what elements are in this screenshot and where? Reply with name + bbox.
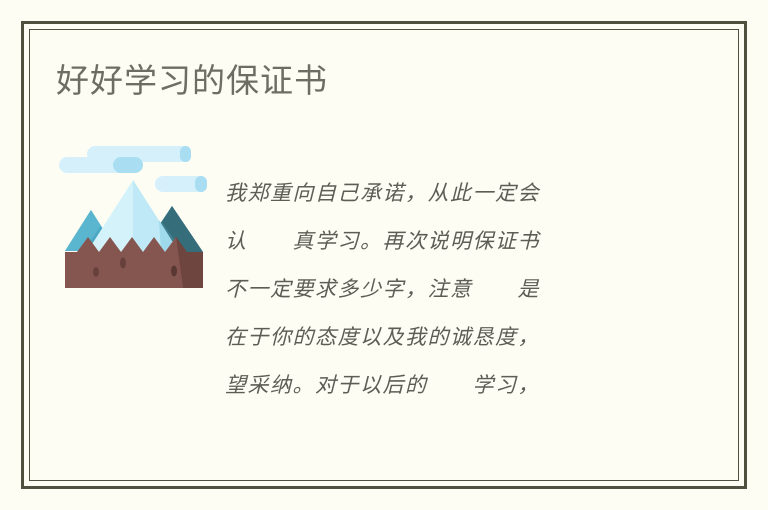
cloud-lower-group: [155, 176, 207, 192]
page-title: 好好学习的保证书: [56, 61, 328, 101]
body-text-line: 认 真学习。再次说明保证书: [225, 217, 645, 265]
body-text-line: 我郑重向自己承诺，从此一定会: [225, 169, 645, 217]
body-text: 我郑重向自己承诺，从此一定会 认 真学习。再次说明保证书 不一定要求多少字，注意…: [225, 169, 645, 409]
mountain-landscape-icon: [55, 140, 211, 305]
document-content: 好好学习的保证书: [29, 29, 739, 481]
body-text-line: 不一定要求多少字，注意 是: [225, 265, 645, 313]
body-text-line: 望采纳。对于以后的 学习，: [225, 361, 645, 409]
cloud-upper-group: [59, 146, 191, 173]
document-page: 好好学习的保证书: [0, 0, 768, 510]
body-text-line: 在于你的态度以及我的诚恳度，: [225, 313, 645, 361]
